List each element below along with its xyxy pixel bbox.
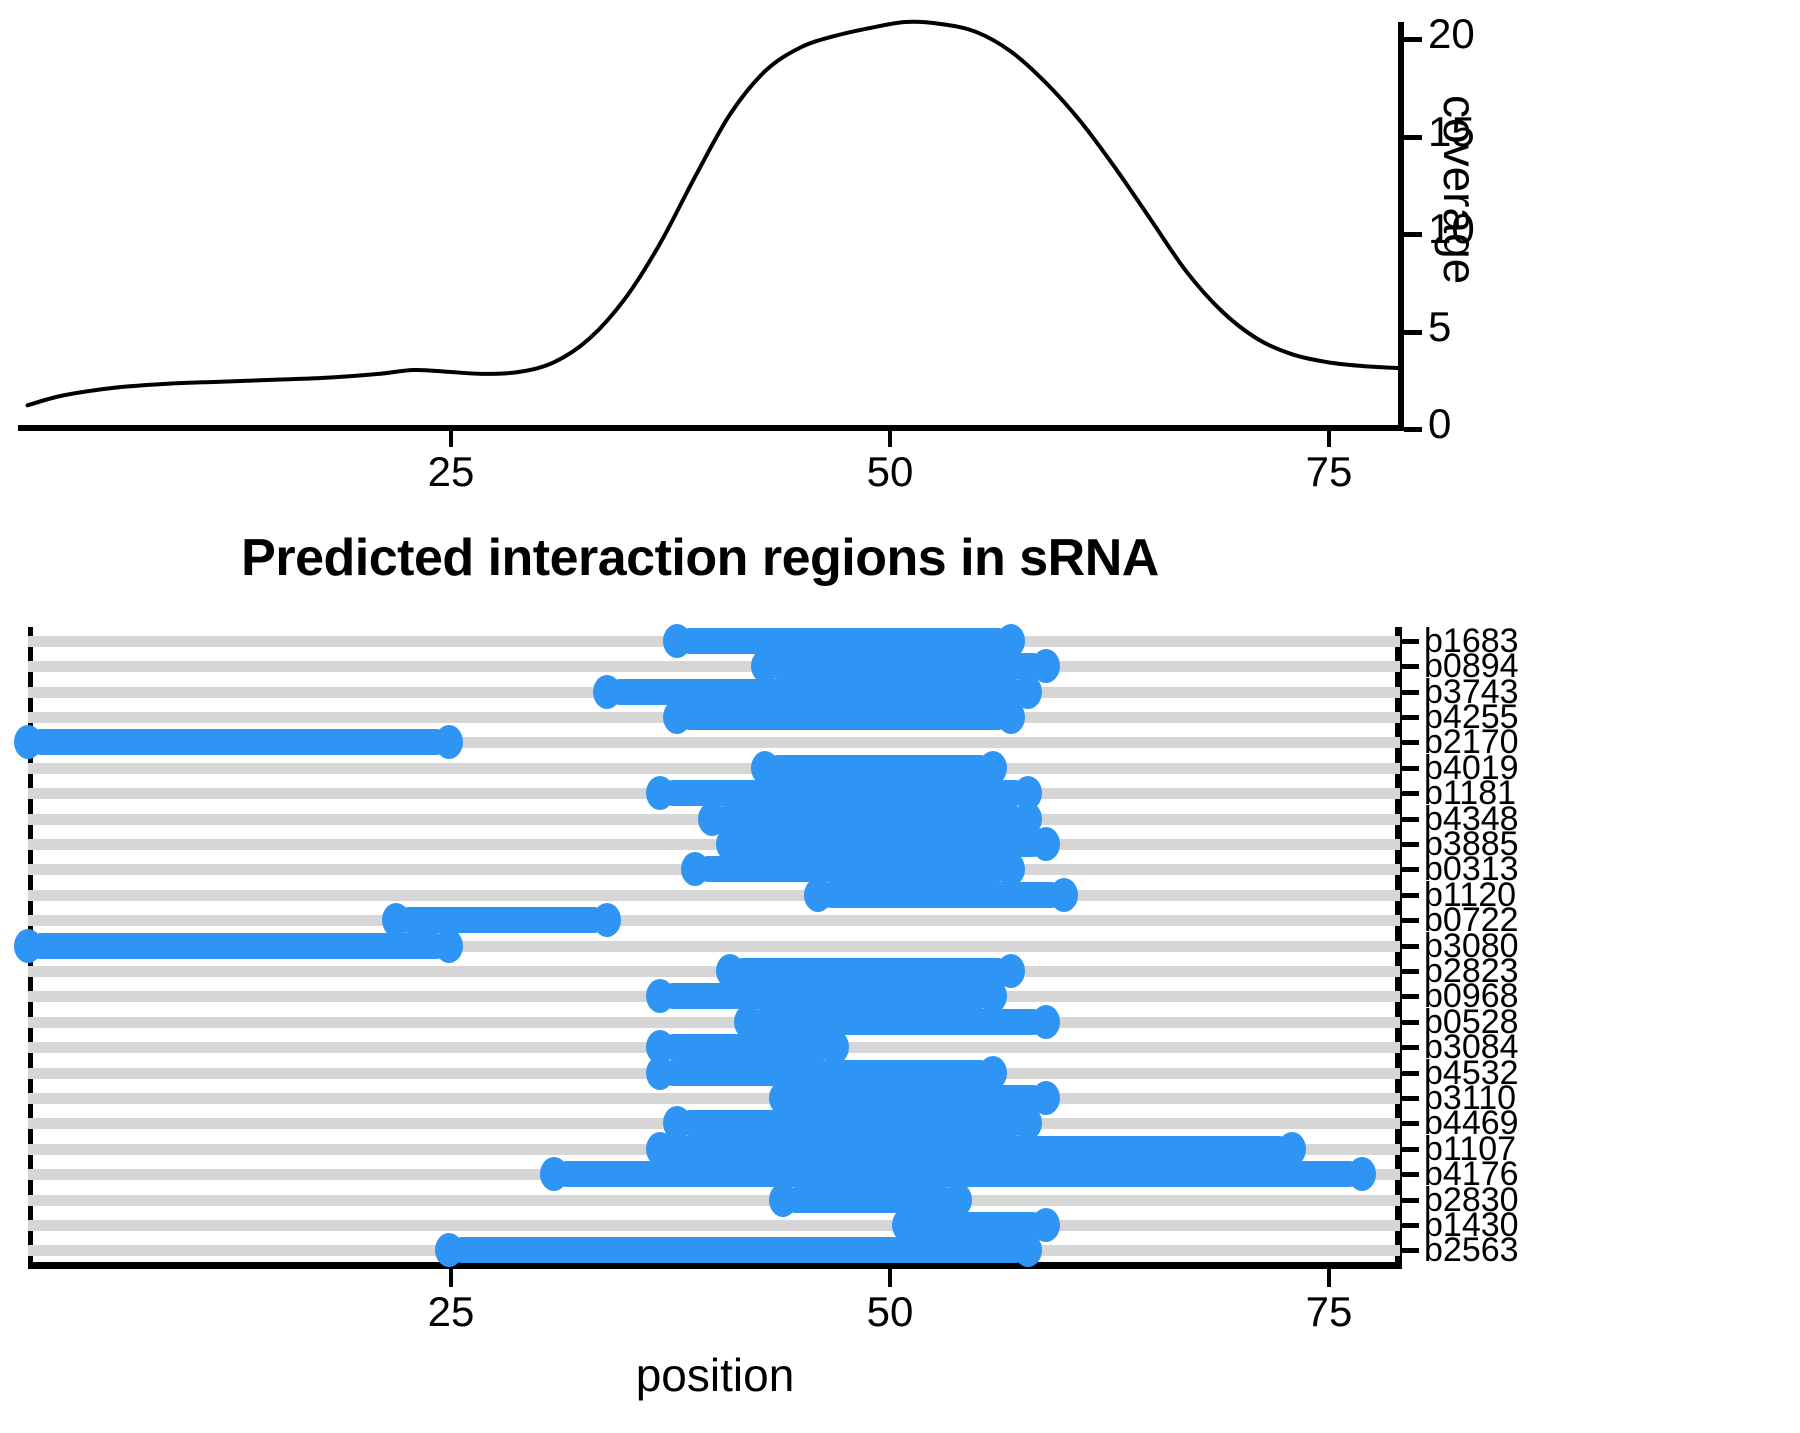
interaction-range-b0528[interactable] bbox=[748, 1009, 1047, 1035]
row-tick-b4469 bbox=[1402, 1121, 1419, 1126]
grid-row bbox=[28, 763, 1400, 774]
row-tick-b4176 bbox=[1402, 1172, 1419, 1177]
row-tick-b4019 bbox=[1402, 766, 1419, 771]
row-tick-b0313 bbox=[1402, 867, 1419, 872]
figure-root: 25 50 75 20 15 10 5 0 coverage Predicted… bbox=[0, 0, 1800, 1433]
interaction-range-b1683[interactable] bbox=[677, 628, 1011, 654]
bottom-xtick-label-50: 50 bbox=[830, 1288, 950, 1336]
row-tick-b2563 bbox=[1402, 1248, 1419, 1253]
bottom-xtick-25 bbox=[449, 1269, 453, 1287]
ytick-20 bbox=[1404, 37, 1422, 42]
row-tick-b3110 bbox=[1402, 1096, 1419, 1101]
range-start-dot-b4532[interactable] bbox=[646, 1056, 674, 1090]
range-end-dot-b3080[interactable] bbox=[435, 929, 463, 963]
x-axis-title: position bbox=[0, 1348, 1430, 1402]
page-title: Predicted interaction regions in sRNA bbox=[0, 528, 1400, 588]
grid-row bbox=[28, 839, 1400, 850]
interaction-range-b0313[interactable] bbox=[695, 856, 1011, 882]
range-end-dot-b1120[interactable] bbox=[1050, 878, 1078, 912]
bottom-xtick-label-25: 25 bbox=[391, 1288, 511, 1336]
top-xtick-50 bbox=[888, 431, 892, 447]
interaction-regions-panel: 25 50 75 position b1683b0894b3743b4255b2… bbox=[0, 600, 1800, 1433]
grid-row bbox=[28, 661, 1400, 672]
ytick-10 bbox=[1404, 232, 1422, 237]
ytick-label-5: 5 bbox=[1428, 306, 1451, 348]
coverage-density-curve bbox=[18, 8, 1398, 428]
interaction-range-b4532[interactable] bbox=[660, 1060, 994, 1086]
grid-row bbox=[28, 1017, 1400, 1028]
ytick-5 bbox=[1404, 330, 1422, 335]
range-start-dot-b0313[interactable] bbox=[681, 852, 709, 886]
top-xtick-label-50: 50 bbox=[830, 448, 950, 496]
row-label-b2563: b2563 bbox=[1424, 1233, 1519, 1267]
grid-row bbox=[28, 1220, 1400, 1231]
interaction-range-b4255[interactable] bbox=[677, 704, 1011, 730]
range-start-dot-b3743[interactable] bbox=[593, 675, 621, 709]
range-start-dot-b0894[interactable] bbox=[751, 649, 779, 683]
row-tick-b4255 bbox=[1402, 715, 1419, 720]
range-start-dot-b1683[interactable] bbox=[663, 624, 691, 658]
grid-row bbox=[28, 966, 1400, 977]
range-start-dot-b4255[interactable] bbox=[663, 700, 691, 734]
top-xtick-25 bbox=[449, 431, 453, 447]
range-end-dot-b0528[interactable] bbox=[1032, 1005, 1060, 1039]
interaction-range-b3885[interactable] bbox=[730, 831, 1046, 857]
coverage-panel: 25 50 75 20 15 10 5 0 coverage bbox=[0, 0, 1800, 500]
row-tick-b3084 bbox=[1402, 1045, 1419, 1050]
row-tick-b0528 bbox=[1402, 1020, 1419, 1025]
bottom-xtick-label-75: 75 bbox=[1269, 1288, 1389, 1336]
range-start-dot-b1181[interactable] bbox=[646, 776, 674, 810]
ytick-15 bbox=[1404, 135, 1422, 140]
range-end-dot-b0722[interactable] bbox=[593, 903, 621, 937]
interaction-range-b2823[interactable] bbox=[730, 958, 1011, 984]
row-tick-b4348 bbox=[1402, 817, 1419, 822]
interaction-range-b1120[interactable] bbox=[818, 882, 1064, 908]
row-tick-b0968 bbox=[1402, 994, 1419, 999]
coverage-x-axis bbox=[18, 425, 1398, 431]
range-start-dot-b0968[interactable] bbox=[646, 979, 674, 1013]
interaction-range-b3110[interactable] bbox=[783, 1085, 1046, 1111]
y-axis-title: coverage bbox=[1433, 95, 1487, 284]
row-tick-b2170 bbox=[1402, 740, 1419, 745]
grid-row bbox=[28, 890, 1400, 901]
row-tick-b0894 bbox=[1402, 664, 1419, 669]
row-tick-b2823 bbox=[1402, 969, 1419, 974]
row-tick-b3885 bbox=[1402, 842, 1419, 847]
coverage-y-axis bbox=[1398, 22, 1404, 431]
interaction-range-b4348[interactable] bbox=[712, 806, 1028, 832]
range-start-dot-b2830[interactable] bbox=[769, 1183, 797, 1217]
position-x-axis bbox=[28, 1262, 1402, 1269]
top-xtick-75 bbox=[1327, 431, 1331, 447]
interaction-range-b2830[interactable] bbox=[783, 1187, 959, 1213]
interaction-range-b2563[interactable] bbox=[449, 1237, 1028, 1263]
row-tick-b1181 bbox=[1402, 791, 1419, 796]
row-tick-b4532 bbox=[1402, 1071, 1419, 1076]
row-tick-b1683 bbox=[1402, 639, 1419, 644]
interaction-range-b0722[interactable] bbox=[396, 907, 607, 933]
range-end-dot-b3885[interactable] bbox=[1032, 827, 1060, 861]
bottom-xtick-75 bbox=[1327, 1269, 1331, 1287]
interaction-range-b3080[interactable] bbox=[28, 933, 449, 959]
bottom-xtick-50 bbox=[888, 1269, 892, 1287]
range-start-dot-b1120[interactable] bbox=[804, 878, 832, 912]
row-tick-b3743 bbox=[1402, 690, 1419, 695]
range-end-dot-b4255[interactable] bbox=[997, 700, 1025, 734]
interaction-range-b0894[interactable] bbox=[765, 653, 1046, 679]
ytick-0 bbox=[1404, 427, 1422, 432]
ytick-label-20: 20 bbox=[1428, 13, 1475, 55]
range-start-dot-b2170[interactable] bbox=[14, 725, 42, 759]
row-tick-b1107 bbox=[1402, 1147, 1419, 1152]
grid-row bbox=[28, 1093, 1400, 1104]
row-tick-b1430 bbox=[1402, 1223, 1419, 1228]
grid-row bbox=[28, 915, 1400, 926]
top-xtick-label-25: 25 bbox=[391, 448, 511, 496]
top-xtick-label-75: 75 bbox=[1269, 448, 1389, 496]
row-tick-b1120 bbox=[1402, 893, 1419, 898]
row-tick-b3080 bbox=[1402, 944, 1419, 949]
row-tick-b0722 bbox=[1402, 918, 1419, 923]
range-end-dot-b4176[interactable] bbox=[1348, 1157, 1376, 1191]
interaction-range-b4469[interactable] bbox=[677, 1110, 1028, 1136]
interaction-range-b3084[interactable] bbox=[660, 1034, 836, 1060]
interaction-range-b1107[interactable] bbox=[660, 1136, 1292, 1162]
interaction-range-b4019[interactable] bbox=[765, 755, 993, 781]
interaction-range-b0968[interactable] bbox=[660, 983, 994, 1009]
grid-row bbox=[28, 1195, 1400, 1206]
ytick-label-0: 0 bbox=[1428, 403, 1451, 445]
range-start-dot-b3080[interactable] bbox=[14, 929, 42, 963]
row-tick-b2830 bbox=[1402, 1198, 1419, 1203]
interaction-range-b2170[interactable] bbox=[28, 729, 449, 755]
